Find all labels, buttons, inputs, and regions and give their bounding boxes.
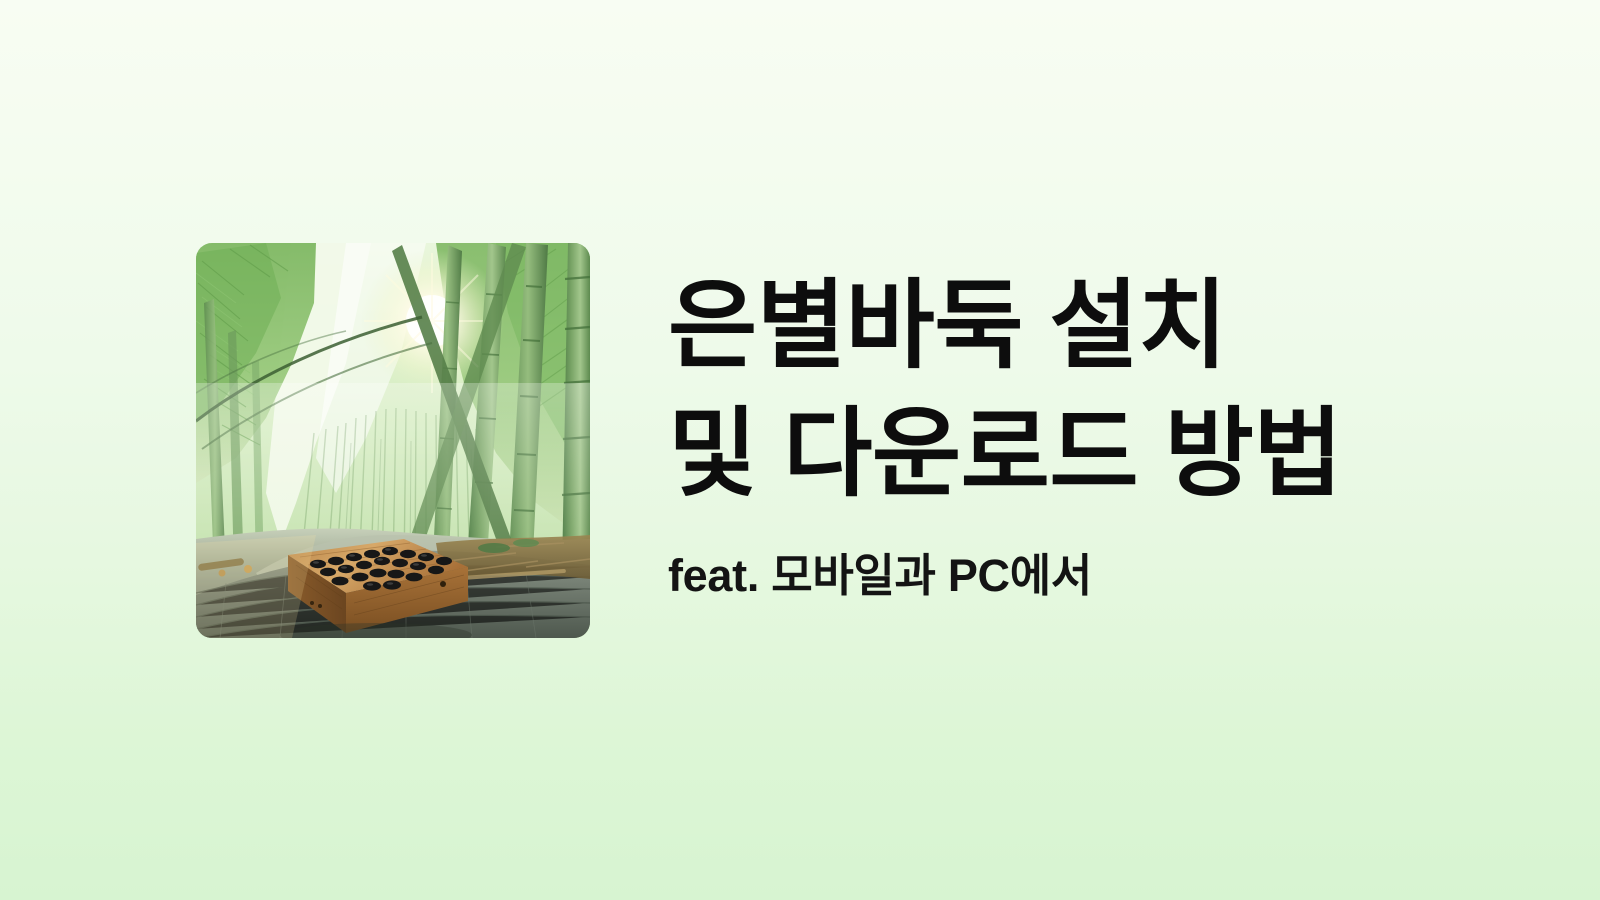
slide-canvas: 은별바둑 설치 및 다운로드 방법 feat. 모바일과 PC에서 (0, 0, 1600, 900)
page-title-line-1: 은별바둑 설치 (668, 262, 1428, 390)
text-block: 은별바둑 설치 및 다운로드 방법 feat. 모바일과 PC에서 (668, 262, 1428, 604)
bamboo-forest-illustration (196, 243, 590, 638)
thumbnail-image (196, 243, 590, 638)
page-subtitle: feat. 모바일과 PC에서 (668, 548, 1428, 604)
page-title-line-2: 및 다운로드 방법 (668, 390, 1428, 518)
